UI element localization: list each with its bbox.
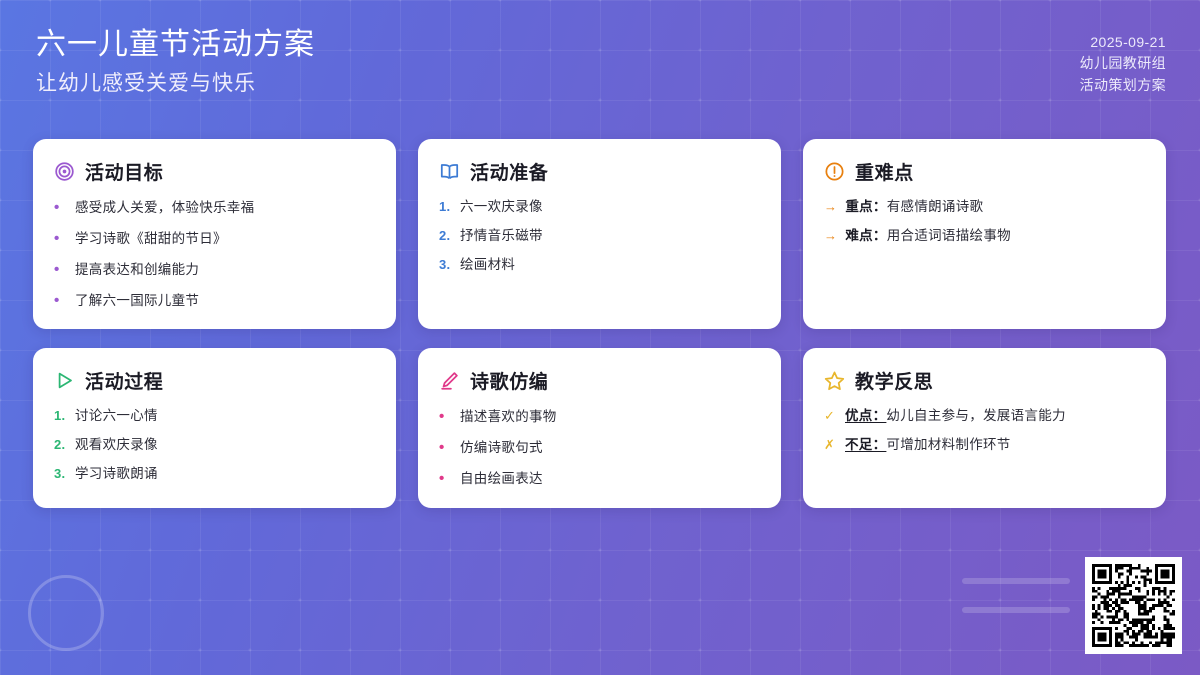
- list-item: •了解六一国际儿童节: [54, 292, 375, 310]
- list-item-value: 有感情朗诵诗歌: [887, 199, 984, 214]
- list-item-value: 了解六一国际儿童节: [75, 293, 199, 308]
- header-left-group: 六一儿童节活动方案 让幼儿感受关爱与快乐: [36, 26, 315, 97]
- list-item: 1.六一欢庆录像: [439, 199, 760, 215]
- card-header: 重难点: [824, 158, 1145, 185]
- header-meta-group: 2025-09-21 幼儿园教研组 活动策划方案: [1080, 26, 1166, 96]
- list-item: •学习诗歌《甜甜的节日》: [54, 230, 375, 248]
- page-subtitle: 让幼儿感受关爱与快乐: [36, 70, 315, 97]
- target-icon: [54, 161, 75, 182]
- list-marker: •: [54, 199, 67, 217]
- list-marker: •: [439, 408, 452, 426]
- list-item-text: 感受成人关爱，体验快乐幸福: [75, 200, 254, 216]
- list-item-value: 抒情音乐磁带: [460, 228, 543, 243]
- list-marker: →: [824, 199, 837, 215]
- header-date: 2025-09-21: [1090, 32, 1166, 53]
- list-item-value: 描述喜欢的事物: [460, 409, 557, 424]
- list-item: 1.讨论六一心情: [54, 408, 375, 424]
- list-item-value: 幼儿自主参与，发展语言能力: [886, 408, 1065, 423]
- list-item-value: 学习诗歌《甜甜的节日》: [75, 231, 227, 246]
- list-item: ✓优点：幼儿自主参与，发展语言能力: [824, 408, 1145, 424]
- card-teaching-reflection[interactable]: 教学反思✓优点：幼儿自主参与，发展语言能力✗不足：可增加材料制作环节: [803, 348, 1166, 508]
- list-item-text: 重点：有感情朗诵诗歌: [845, 199, 983, 215]
- list-marker: •: [439, 439, 452, 457]
- list-item-value: 六一欢庆录像: [460, 199, 543, 214]
- list-marker: 2.: [439, 228, 452, 244]
- list-marker: 1.: [439, 199, 452, 215]
- decorative-circle: [28, 575, 104, 651]
- list-item-text: 观看欢庆录像: [75, 437, 158, 453]
- header-doc-type: 活动策划方案: [1080, 75, 1166, 96]
- list-item-value: 用合适词语描绘事物: [887, 228, 1011, 243]
- presentation-slide: 六一儿童节活动方案 让幼儿感受关爱与快乐 2025-09-21 幼儿园教研组 活…: [0, 0, 1200, 675]
- card-title: 诗歌仿编: [470, 367, 548, 394]
- header-organization: 幼儿园教研组: [1080, 53, 1166, 74]
- card-list: →重点：有感情朗诵诗歌→难点：用合适词语描绘事物: [824, 199, 1145, 244]
- card-list: •感受成人关爱，体验快乐幸福•学习诗歌《甜甜的节日》•提高表达和创编能力•了解六…: [54, 199, 375, 310]
- card-title: 活动过程: [85, 367, 163, 394]
- page-title: 六一儿童节活动方案: [36, 26, 315, 64]
- list-item: •仿编诗歌句式: [439, 439, 760, 457]
- list-item-label: 重点：: [845, 199, 886, 214]
- card-list: 1.六一欢庆录像2.抒情音乐磁带3.绘画材料: [439, 199, 760, 274]
- list-marker: 3.: [54, 466, 67, 482]
- card-grid: 活动目标•感受成人关爱，体验快乐幸福•学习诗歌《甜甜的节日》•提高表达和创编能力…: [33, 139, 1167, 508]
- list-item-text: 提高表达和创编能力: [75, 262, 199, 278]
- list-item-text: 优点：幼儿自主参与，发展语言能力: [845, 408, 1066, 424]
- list-marker: •: [439, 470, 452, 488]
- list-item-text: 难点：用合适词语描绘事物: [845, 228, 1011, 244]
- card-list: •描述喜欢的事物•仿编诗歌句式•自由绘画表达: [439, 408, 760, 488]
- list-item-value: 学习诗歌朗诵: [75, 466, 158, 481]
- card-title: 活动准备: [470, 158, 548, 185]
- list-item-value: 自由绘画表达: [460, 471, 543, 486]
- list-item: ✗不足：可增加材料制作环节: [824, 437, 1145, 453]
- list-item-text: 仿编诗歌句式: [460, 440, 543, 456]
- list-item: 3.绘画材料: [439, 257, 760, 273]
- list-item-text: 抒情音乐磁带: [460, 228, 543, 244]
- list-item-label: 优点：: [845, 408, 886, 423]
- card-key-difficulties[interactable]: 重难点→重点：有感情朗诵诗歌→难点：用合适词语描绘事物: [803, 139, 1166, 329]
- list-item-text: 绘画材料: [460, 257, 515, 273]
- list-item-text: 描述喜欢的事物: [460, 409, 557, 425]
- list-item: •感受成人关爱，体验快乐幸福: [54, 199, 375, 217]
- card-title: 教学反思: [855, 367, 933, 394]
- card-header: 活动准备: [439, 158, 760, 185]
- card-poem-adaptation[interactable]: 诗歌仿编•描述喜欢的事物•仿编诗歌句式•自由绘画表达: [418, 348, 781, 508]
- list-item-value: 感受成人关爱，体验快乐幸福: [75, 200, 254, 215]
- play-triangle-icon: [54, 370, 75, 391]
- list-marker: •: [54, 292, 67, 310]
- list-item-label: 不足：: [845, 437, 886, 452]
- list-item: 3.学习诗歌朗诵: [54, 466, 375, 482]
- exclamation-circle-icon: [824, 161, 845, 182]
- list-item-text: 六一欢庆录像: [460, 199, 543, 215]
- book-icon: [439, 161, 460, 182]
- list-marker: •: [54, 230, 67, 248]
- star-icon: [824, 370, 845, 391]
- qr-code[interactable]: [1085, 557, 1182, 654]
- list-item-text: 了解六一国际儿童节: [75, 293, 199, 309]
- list-item: 2.观看欢庆录像: [54, 437, 375, 453]
- list-item: →难点：用合适词语描绘事物: [824, 228, 1145, 244]
- decorative-line-1: [962, 578, 1070, 584]
- list-item-value: 讨论六一心情: [75, 408, 158, 423]
- card-activity-process[interactable]: 活动过程1.讨论六一心情2.观看欢庆录像3.学习诗歌朗诵: [33, 348, 396, 508]
- list-item: •提高表达和创编能力: [54, 261, 375, 279]
- list-marker: 2.: [54, 437, 67, 453]
- list-item-value: 绘画材料: [460, 257, 515, 272]
- list-marker: →: [824, 228, 837, 244]
- card-title: 重难点: [855, 158, 914, 185]
- card-header: 活动过程: [54, 367, 375, 394]
- decorative-line-2: [962, 607, 1070, 613]
- slide-header: 六一儿童节活动方案 让幼儿感受关爱与快乐 2025-09-21 幼儿园教研组 活…: [0, 0, 1200, 125]
- list-item-value: 观看欢庆录像: [75, 437, 158, 452]
- list-item-value: 提高表达和创编能力: [75, 262, 199, 277]
- list-marker: 1.: [54, 408, 67, 424]
- qr-code-image: [1092, 564, 1175, 647]
- list-item-value: 仿编诗歌句式: [460, 440, 543, 455]
- card-title: 活动目标: [85, 158, 163, 185]
- card-header: 诗歌仿编: [439, 367, 760, 394]
- card-header: 教学反思: [824, 367, 1145, 394]
- card-list: ✓优点：幼儿自主参与，发展语言能力✗不足：可增加材料制作环节: [824, 408, 1145, 453]
- list-item: →重点：有感情朗诵诗歌: [824, 199, 1145, 215]
- list-marker: ✗: [824, 437, 837, 453]
- list-item-text: 学习诗歌《甜甜的节日》: [75, 231, 227, 247]
- card-activity-preparation[interactable]: 活动准备1.六一欢庆录像2.抒情音乐磁带3.绘画材料: [418, 139, 781, 329]
- list-item-value: 可增加材料制作环节: [886, 437, 1010, 452]
- list-marker: •: [54, 261, 67, 279]
- list-marker: ✓: [824, 408, 837, 424]
- list-item: 2.抒情音乐磁带: [439, 228, 760, 244]
- list-item-text: 不足：可增加材料制作环节: [845, 437, 1011, 453]
- list-item: •描述喜欢的事物: [439, 408, 760, 426]
- list-item-text: 学习诗歌朗诵: [75, 466, 158, 482]
- list-item-text: 讨论六一心情: [75, 408, 158, 424]
- list-item-label: 难点：: [845, 228, 886, 243]
- card-activity-goals[interactable]: 活动目标•感受成人关爱，体验快乐幸福•学习诗歌《甜甜的节日》•提高表达和创编能力…: [33, 139, 396, 329]
- list-item-text: 自由绘画表达: [460, 471, 543, 487]
- list-item: •自由绘画表达: [439, 470, 760, 488]
- card-header: 活动目标: [54, 158, 375, 185]
- list-marker: 3.: [439, 257, 452, 273]
- pencil-icon: [439, 370, 460, 391]
- card-list: 1.讨论六一心情2.观看欢庆录像3.学习诗歌朗诵: [54, 408, 375, 483]
